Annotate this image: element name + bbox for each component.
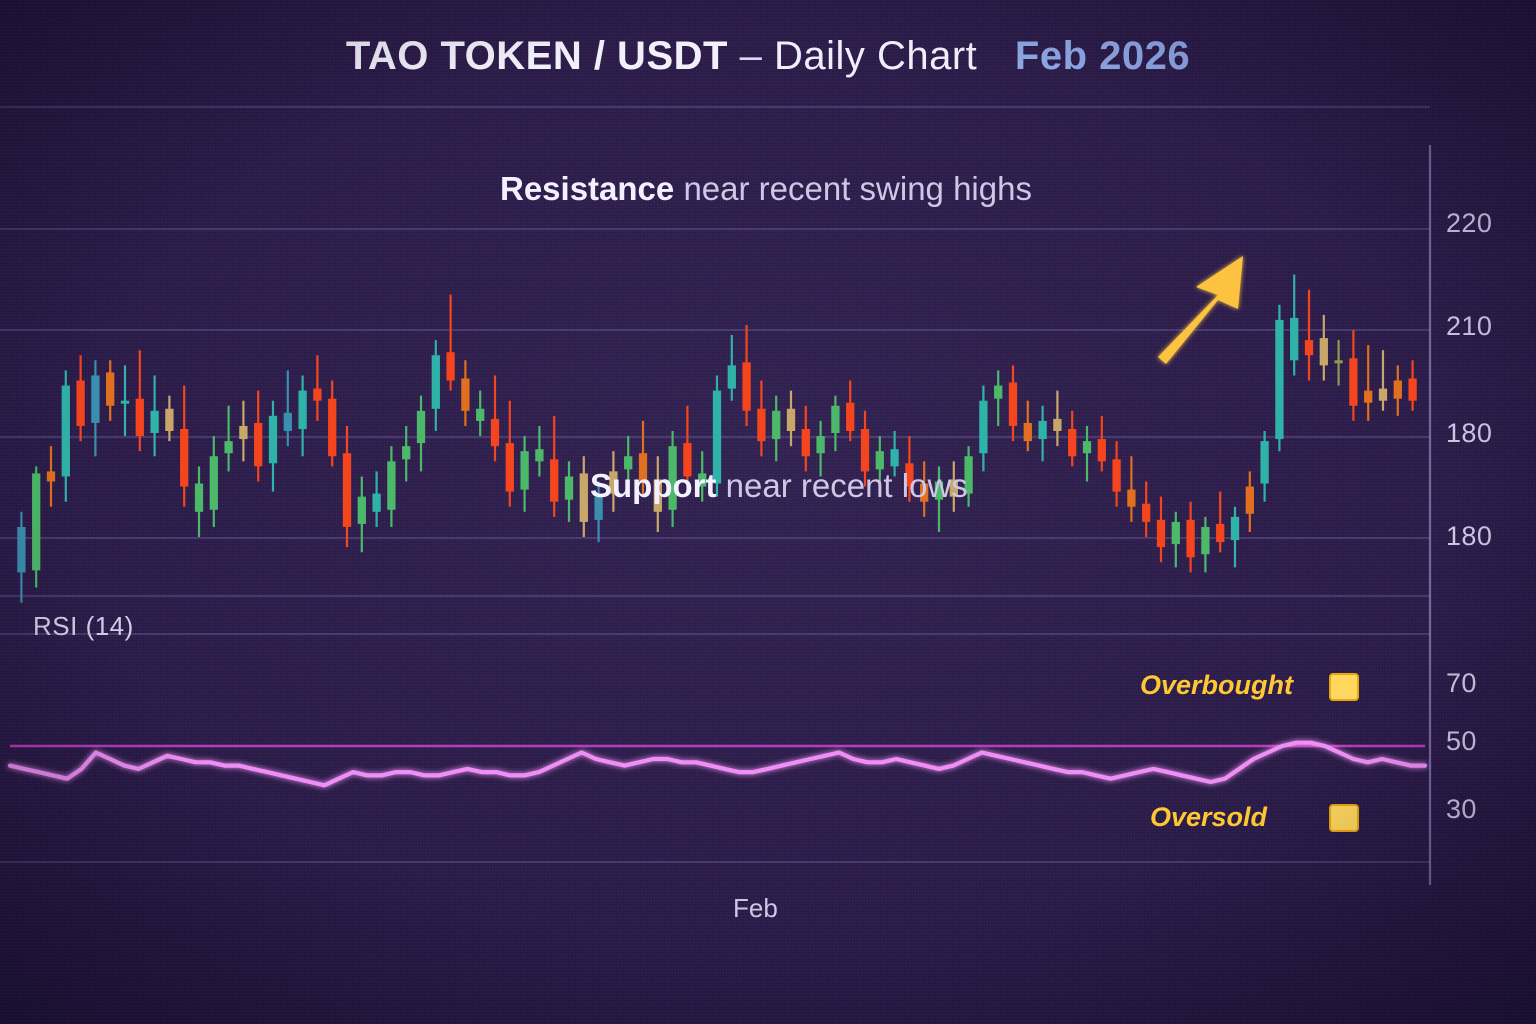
candle-body (239, 426, 247, 439)
rsi-tick-70: 70 (1446, 668, 1477, 699)
candle-body (358, 497, 366, 524)
candle-body (180, 429, 188, 487)
candle-body (91, 375, 99, 422)
candle-body (550, 459, 558, 501)
candle-body (1009, 383, 1017, 426)
candle-body (728, 365, 736, 388)
candle-body (506, 443, 514, 491)
candle-body (1112, 459, 1120, 491)
support-annotation: Support near recent lows (590, 467, 968, 505)
up-trend-arrow-icon (1158, 256, 1243, 364)
candle-body (1349, 358, 1357, 405)
candle-body (890, 449, 898, 466)
price-tick-180-upper: 180 (1446, 418, 1492, 449)
candle-body (402, 446, 410, 459)
price-tick-220: 220 (1446, 208, 1492, 239)
candle-body (846, 403, 854, 431)
candle-body (136, 399, 144, 436)
candle-body (476, 409, 484, 421)
oversold-label: Oversold (1150, 802, 1267, 833)
support-annotation-rest: near recent lows (726, 467, 968, 504)
candle-body (1142, 504, 1150, 522)
overbought-label: Overbought (1140, 670, 1293, 701)
x-axis-label: Feb (733, 893, 778, 924)
candle-body (535, 449, 543, 461)
candle-body (284, 413, 292, 431)
candle-body (994, 386, 1002, 399)
candle-body (979, 401, 987, 454)
oversold-marker[interactable] (1330, 805, 1358, 831)
resistance-annotation-strong: Resistance (500, 170, 674, 207)
candle-body (461, 378, 469, 410)
candle-body (387, 461, 395, 509)
candle-body (32, 473, 40, 570)
candle-body (1231, 517, 1239, 540)
resistance-annotation: Resistance near recent swing highs (500, 170, 1032, 208)
candle-body (254, 423, 262, 466)
candle-body (787, 409, 795, 431)
candle-body (742, 362, 750, 410)
candle-body (1275, 320, 1283, 439)
candle-body (150, 411, 158, 433)
candle-body (298, 391, 306, 429)
candle-body (17, 527, 25, 572)
chart-stage: TAO TOKEN / USDT – Daily Chart Feb 2026 (0, 0, 1536, 1024)
price-tick-180-lower: 180 (1446, 521, 1492, 552)
rsi-tick-50: 50 (1446, 726, 1477, 757)
rsi-tick-30: 30 (1446, 794, 1477, 825)
support-annotation-strong: Support (590, 467, 716, 504)
rsi-line-series (10, 743, 1425, 786)
chart-canvas (0, 0, 1536, 1024)
candle-body (1172, 522, 1180, 544)
candle-body (121, 401, 129, 404)
rsi-panel-label: RSI (14) (33, 611, 134, 642)
candle-body (372, 494, 380, 512)
candle-body (565, 476, 573, 499)
candle-body (76, 381, 84, 426)
candle-body (1098, 439, 1106, 461)
candle-body (1083, 441, 1091, 453)
candle-body (224, 441, 232, 453)
candle-body (1053, 419, 1061, 431)
candle-body (1334, 360, 1342, 363)
candle-body (62, 386, 70, 477)
price-tick-210: 210 (1446, 311, 1492, 342)
candle-body (580, 473, 588, 521)
candle-body (1216, 524, 1224, 542)
candle-body (1408, 378, 1416, 400)
candle-body (165, 409, 173, 431)
candle-body (47, 471, 55, 481)
candle-body (520, 451, 528, 489)
candle-body (106, 372, 114, 405)
candle-body (269, 416, 277, 463)
candle-body (831, 406, 839, 433)
candle-body (313, 389, 321, 401)
candle-body (1394, 381, 1402, 399)
candle-body (210, 456, 218, 510)
candle-body (1246, 487, 1254, 514)
candle-body (1186, 520, 1194, 557)
resistance-annotation-rest: near recent swing highs (683, 170, 1032, 207)
candle-body (1157, 520, 1165, 547)
candle-body (328, 399, 336, 457)
overbought-marker[interactable] (1330, 674, 1358, 700)
candle-body (1320, 338, 1328, 365)
candle-body (1127, 490, 1135, 507)
candle-body (343, 453, 351, 527)
candle-body (1290, 318, 1298, 360)
candle-body (1364, 391, 1372, 403)
candle-body (1201, 527, 1209, 554)
candle-body (432, 355, 440, 409)
candle-body (1379, 389, 1387, 401)
candle-body (1305, 340, 1313, 355)
candle-body (446, 352, 454, 380)
candle-body (195, 484, 203, 512)
candle-body (1260, 441, 1268, 483)
